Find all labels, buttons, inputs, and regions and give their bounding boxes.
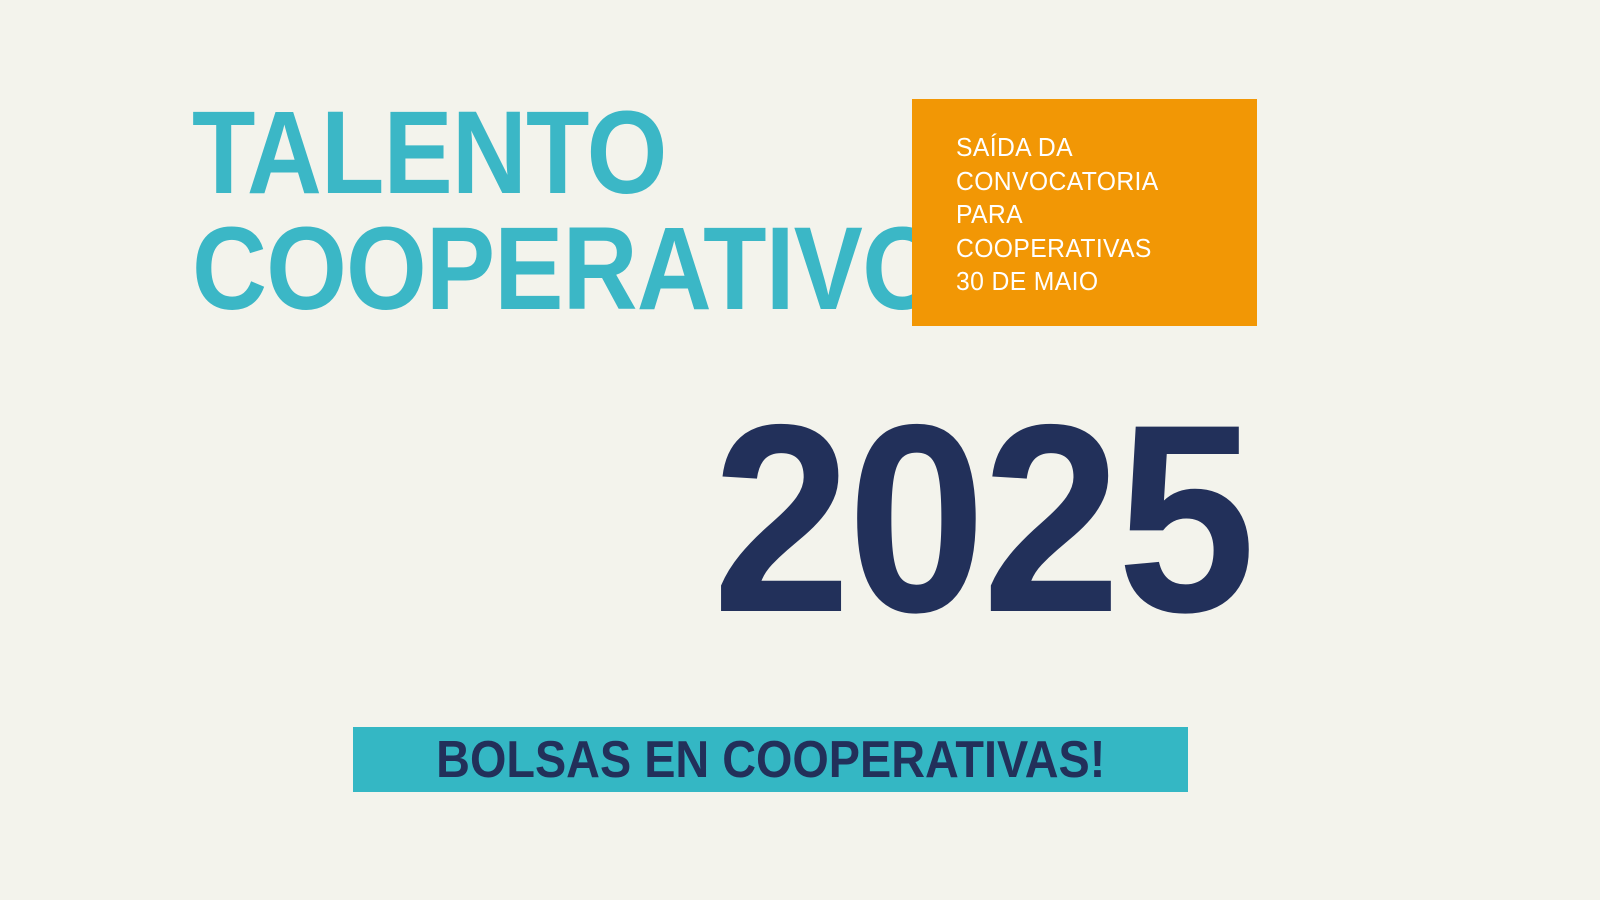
page-title-line-2: COOPERATIVO (192, 212, 826, 328)
page-title: TALENTO COOPERATIVO (192, 96, 826, 327)
callout-box: SAÍDA DA CONVOCATORIA PARA COOPERATIVAS … (912, 99, 1257, 326)
poster-canvas: TALENTO COOPERATIVO SAÍDA DA CONVOCATORI… (0, 0, 1600, 900)
bottom-banner: BOLSAS EN COOPERATIVAS! (353, 727, 1188, 792)
page-title-line-1: TALENTO (192, 96, 826, 212)
callout-text: SAÍDA DA CONVOCATORIA PARA COOPERATIVAS … (956, 131, 1242, 299)
year-label: 2025 (683, 384, 1252, 652)
bottom-banner-text: BOLSAS EN COOPERATIVAS! (436, 734, 1105, 786)
